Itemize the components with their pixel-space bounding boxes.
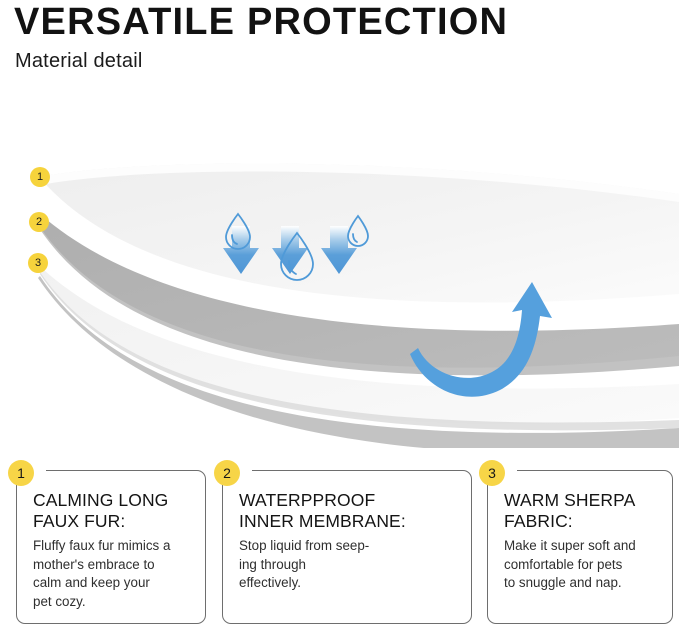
card-heading: WARM SHERPA FABRIC: [504, 490, 664, 532]
layer-marker-2: 2 [29, 212, 49, 232]
feature-card-2: 2 WATERPPROOF INNER MEMBRANE: Stop liqui… [222, 470, 472, 624]
card-heading: WATERPPROOF INNER MEMBRANE: [239, 490, 463, 532]
card-badge-1: 1 [8, 460, 34, 486]
card-badge-3: 3 [479, 460, 505, 486]
card-content: WARM SHERPA FABRIC: Make it super soft a… [504, 490, 664, 593]
page-subtitle: Material detail [15, 48, 143, 74]
card-badge-2: 2 [214, 460, 240, 486]
card-body: Fluffy faux fur mimics a mother's embrac… [33, 537, 197, 611]
layer-marker-3: 3 [28, 253, 48, 273]
card-heading: CALMING LONG FAUX FUR: [33, 490, 197, 532]
card-body: Stop liquid from seep- ing through effec… [239, 537, 463, 593]
feature-card-3: 3 WARM SHERPA FABRIC: Make it super soft… [487, 470, 673, 624]
layer-marker-1: 1 [30, 167, 50, 187]
page-title: VERSATILE PROTECTION [14, 0, 508, 44]
layers-illustration [0, 98, 679, 448]
feature-cards: 1 CALMING LONG FAUX FUR: Fluffy faux fur… [0, 462, 679, 632]
card-body: Make it super soft and comfortable for p… [504, 537, 664, 593]
material-layers-diagram: 1 2 3 [0, 98, 679, 448]
card-content: WATERPPROOF INNER MEMBRANE: Stop liquid … [239, 490, 463, 593]
feature-card-1: 1 CALMING LONG FAUX FUR: Fluffy faux fur… [16, 470, 206, 624]
card-content: CALMING LONG FAUX FUR: Fluffy faux fur m… [33, 490, 197, 611]
header: VERSATILE PROTECTION Material detail [0, 0, 679, 92]
